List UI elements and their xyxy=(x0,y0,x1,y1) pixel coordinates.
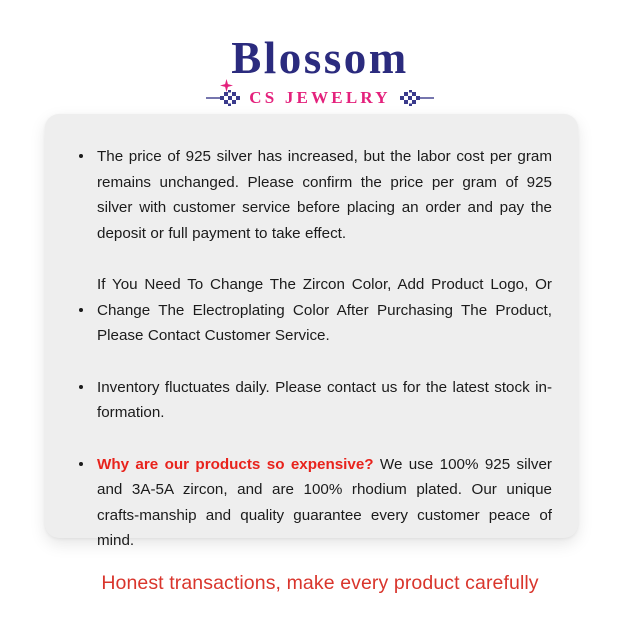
notice-bullet-list: The price of 925 silver has increased, b… xyxy=(71,144,552,554)
bullet-dot-icon xyxy=(79,385,83,389)
list-item: The price of 925 silver has increased, b… xyxy=(71,144,552,246)
notice-card: The price of 925 silver has increased, b… xyxy=(45,114,578,538)
list-item: If You Need To Change The Zircon Color, … xyxy=(71,272,552,349)
brand-logo: Blossom xyxy=(0,34,640,108)
brand-subtitle-text: CS JEWELRY xyxy=(249,88,390,108)
bullet-text: The price of 925 silver has increased, b… xyxy=(97,144,552,246)
brand-name-wrapper: Blossom xyxy=(231,34,409,82)
brand-name-text: Blossom xyxy=(231,33,409,83)
list-item: Inventory fluctuates daily. Please conta… xyxy=(71,375,552,426)
list-item: Why are our products so expensive? We us… xyxy=(71,452,552,554)
notice-page: Blossom xyxy=(0,0,640,640)
bullet-dot-icon xyxy=(79,308,83,312)
bullet-text: If You Need To Change The Zircon Color, … xyxy=(97,272,552,349)
sparkle-diamond-icon xyxy=(220,53,233,66)
bullet-text: Inventory fluctuates daily. Please conta… xyxy=(97,375,552,426)
bullet-dot-icon xyxy=(79,154,83,158)
brand-subtitle-row: CS JEWELRY xyxy=(0,88,640,108)
bullet-text-mixed: Why are our products so expensive? We us… xyxy=(97,452,552,554)
footer-tagline: Honest transactions, make every product … xyxy=(0,570,640,596)
diamond-ornament-icon xyxy=(206,90,240,106)
bullet-dot-icon xyxy=(79,462,83,466)
bullet-highlight-text: Why are our products so expensive? xyxy=(97,456,374,473)
diamond-ornament-icon xyxy=(400,90,434,106)
